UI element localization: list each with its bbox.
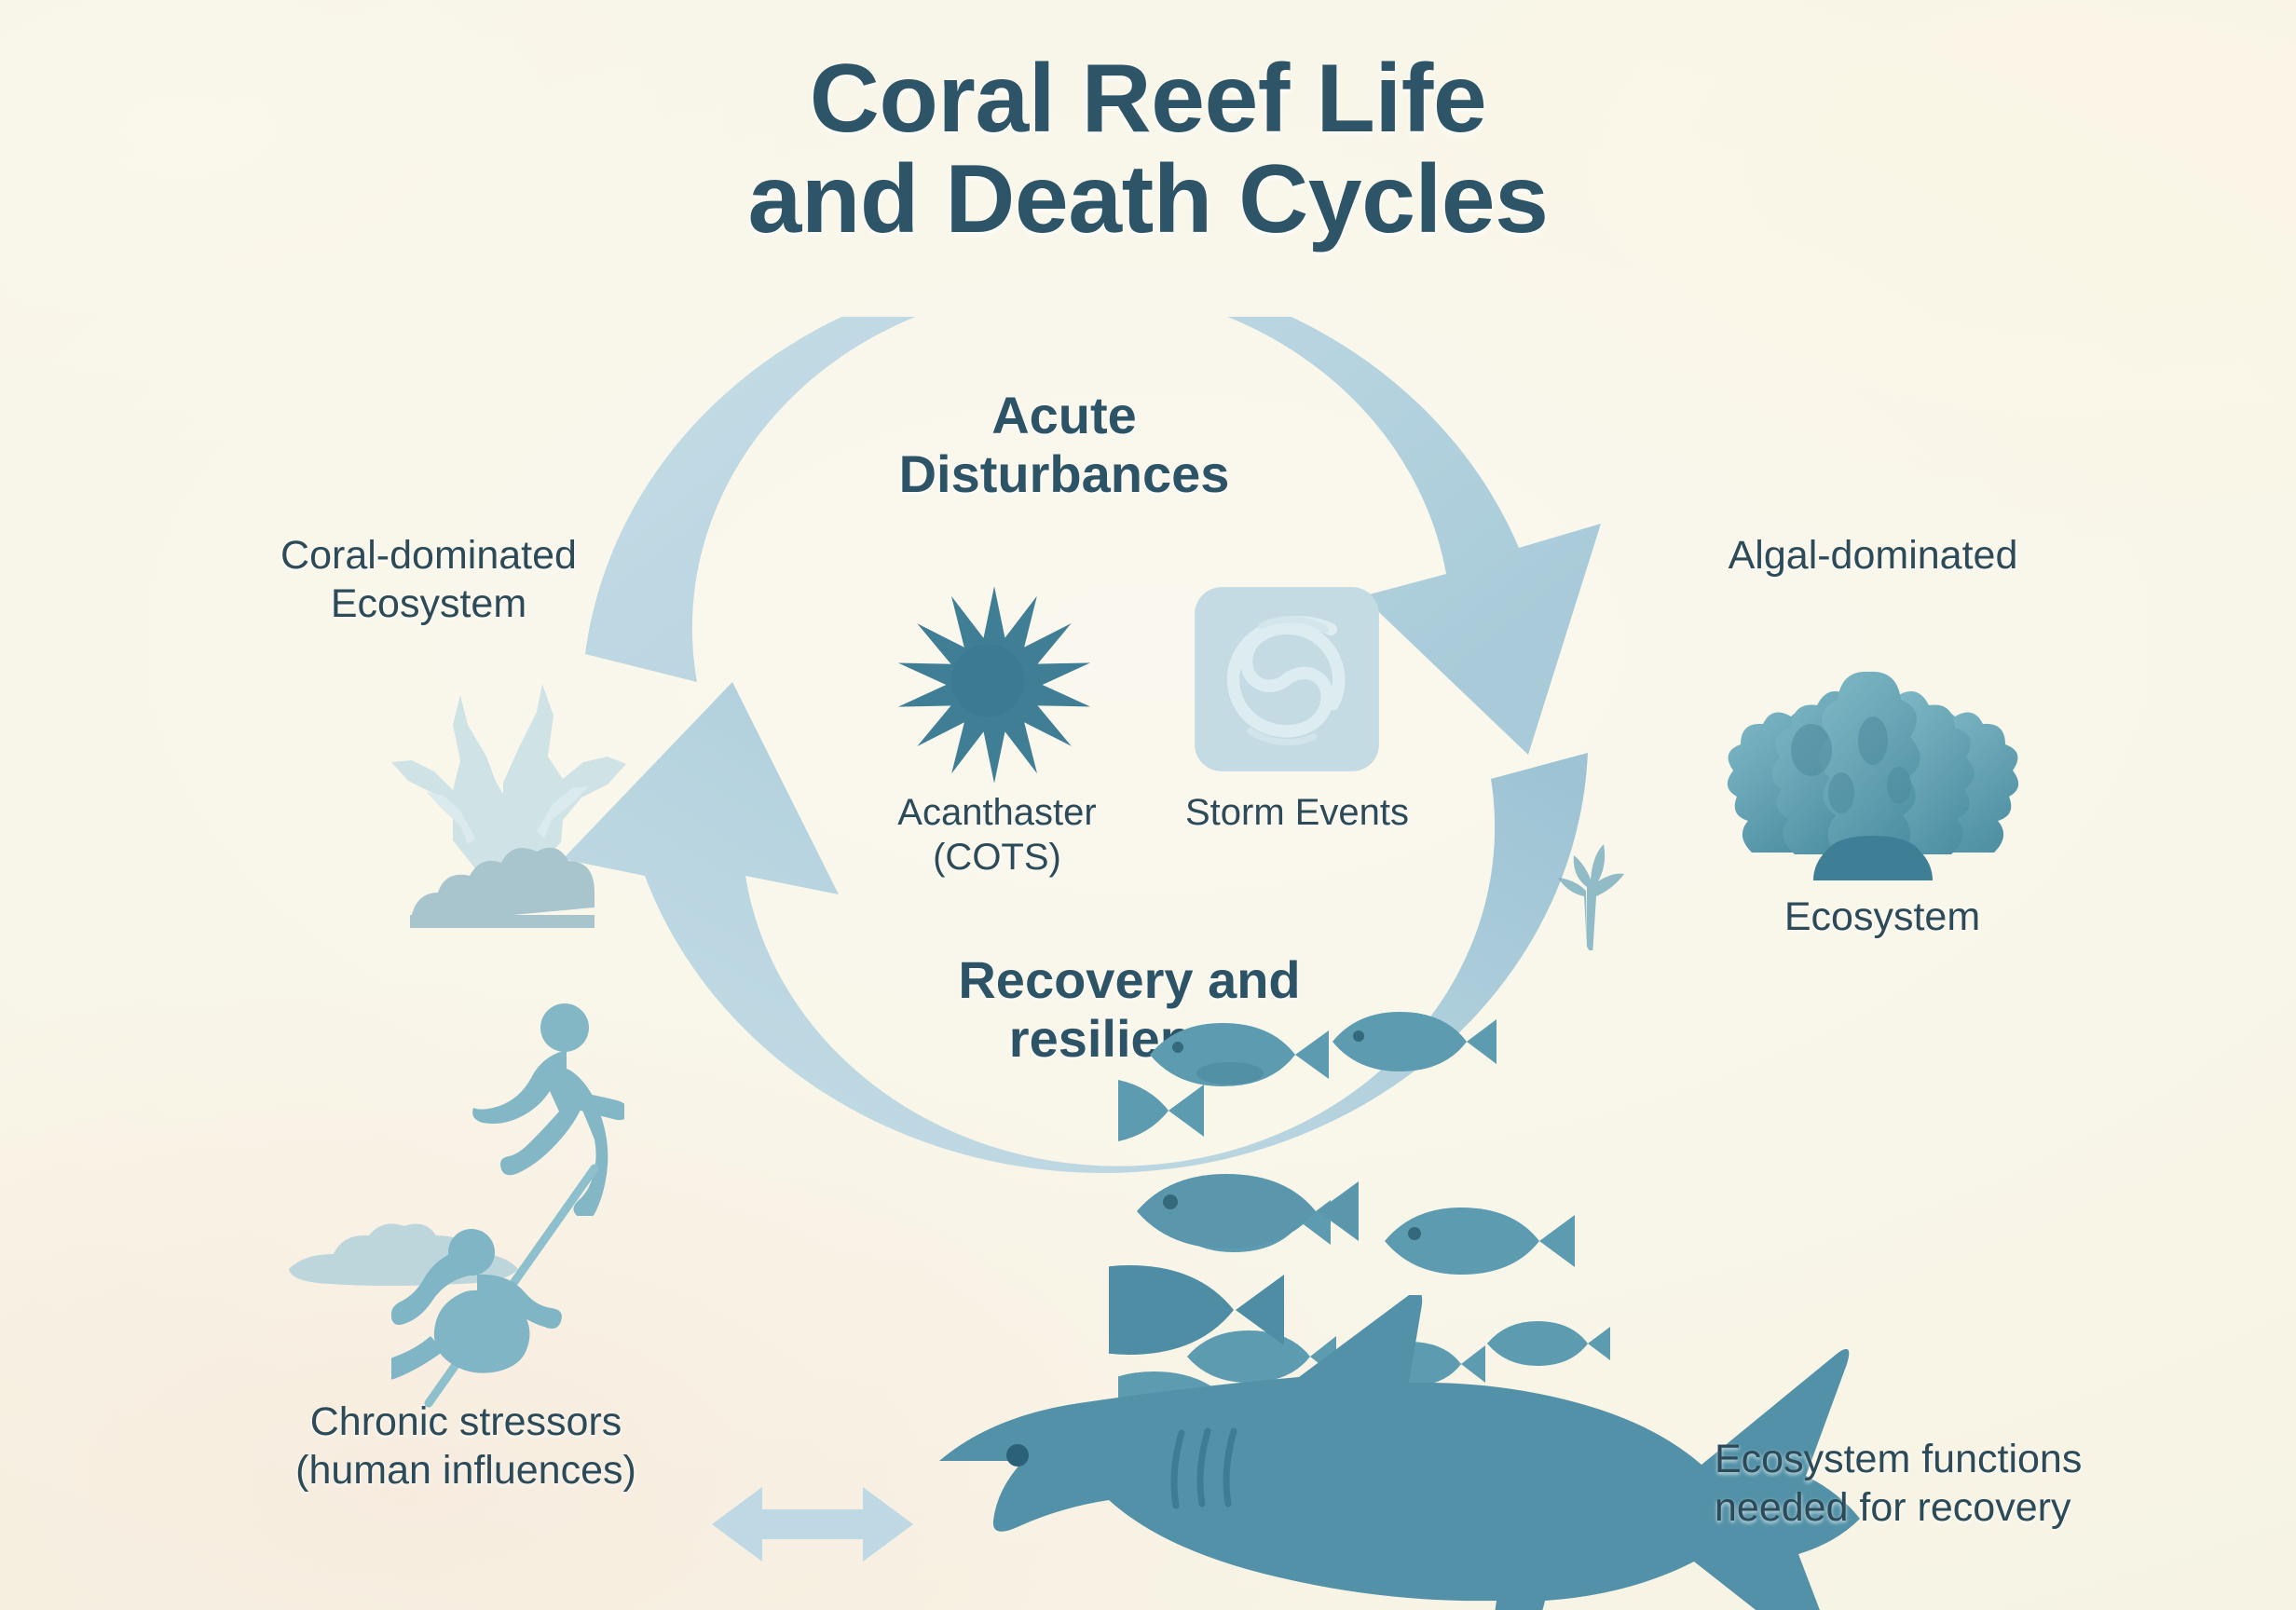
- acute-line-2: Disturbances: [775, 444, 1353, 503]
- title-line-2: and Death Cycles: [0, 149, 2296, 250]
- algal-ecosystem-line-2: Ecosystem: [1705, 893, 2059, 941]
- bidirectional-arrow: [710, 1480, 915, 1569]
- functions-line-2: needed for recovery: [1715, 1483, 2236, 1532]
- spearfisher-icon: [391, 1146, 634, 1416]
- cots-caption: Acanthaster (COTS): [829, 790, 1165, 880]
- functions-line-1: Ecosystem functions: [1715, 1435, 2236, 1483]
- coral-dominated-line-2: Ecosystem: [186, 580, 671, 628]
- infographic-canvas: Coral Reef Life and Death Cycles A: [0, 0, 2296, 1610]
- cots-caption-line-1: Acanthaster: [829, 790, 1165, 835]
- storm-caption-line-1: Storm Events: [1148, 790, 1446, 835]
- coral-dominated-label: Coral-dominated Ecosystem: [186, 531, 671, 629]
- title-line-1: Coral Reef Life: [810, 45, 1486, 153]
- page-title: Coral Reef Life and Death Cycles: [0, 48, 2296, 250]
- storm-caption: Storm Events: [1148, 790, 1446, 835]
- cots-caption-line-2: (COTS): [829, 835, 1165, 880]
- starfish-icon: [887, 578, 1101, 792]
- coral-dominated-line-1: Coral-dominated: [186, 531, 671, 580]
- chronic-line-2: (human influences): [214, 1446, 717, 1494]
- chronic-stressors-label: Chronic stressors (human influences): [214, 1398, 717, 1495]
- acute-line-1: Acute: [775, 386, 1353, 444]
- chronic-line-1: Chronic stressors: [214, 1398, 717, 1446]
- macroalgae-icon: [1715, 601, 2031, 880]
- algal-dominated-label: Algal-dominated: [1640, 531, 2106, 580]
- small-seaweed-icon: [1536, 839, 1638, 950]
- branching-coral-icon: [363, 671, 643, 932]
- recovery-line-1: Recovery and: [878, 950, 1381, 1009]
- algal-dominated-line-1: Algal-dominated: [1640, 531, 2106, 580]
- ecosystem-functions-label: Ecosystem functions needed for recovery: [1715, 1435, 2236, 1533]
- algal-ecosystem-label: Ecosystem: [1705, 893, 2059, 941]
- acute-disturbances-heading: Acute Disturbances: [775, 386, 1353, 504]
- cyclone-icon: [1191, 583, 1383, 775]
